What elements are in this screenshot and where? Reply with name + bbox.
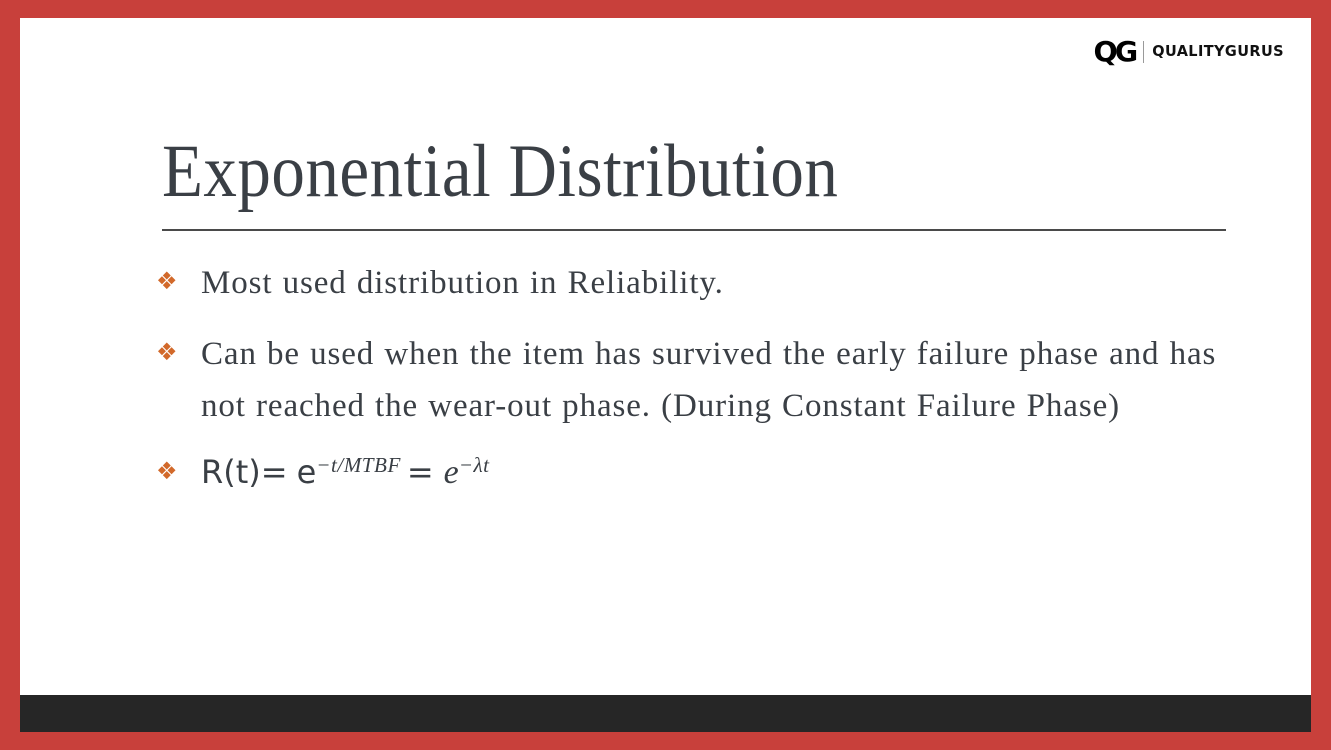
diamond-bullet-icon: ❖ [156,258,201,293]
slide-canvas: QG QUALITYGURUS Exponential Distribution… [20,18,1311,732]
formula-base-2: e [444,454,459,491]
bullet-item-1: ❖ Most used distribution in Reliability. [156,258,1226,310]
reliability-formula: R(t)=e−t/MTBF=e−λt [201,451,490,495]
slide-frame: QG QUALITYGURUS Exponential Distribution… [0,0,1331,750]
bullet-item-2-text: Can be used when the item has survived t… [201,329,1226,433]
diamond-bullet-icon: ❖ [156,451,201,483]
qualitygurus-logo: QG QUALITYGURUS [1094,37,1284,67]
logo-mark-qg: QG [1094,38,1139,66]
title-underline-rule [162,229,1226,231]
diamond-bullet-icon: ❖ [156,329,201,364]
logo-wordmark: QUALITYGURUS [1152,44,1284,59]
bullet-list: ❖ Most used distribution in Reliability.… [156,258,1226,515]
logo-divider [1143,41,1144,63]
formula-exponent-1: −t/MTBF [316,453,401,477]
formula-base-1: e [297,453,317,491]
formula-exponent-2: −λt [459,453,490,477]
bullet-item-2: ❖ Can be used when the item has survived… [156,329,1226,433]
footer-bar [20,695,1311,732]
bullet-item-1-text: Most used distribution in Reliability. [201,258,1226,310]
bullet-item-formula: ❖ R(t)=e−t/MTBF=e−λt [156,451,1226,495]
slide-title: Exponential Distribution [162,130,1232,214]
formula-equals: = [401,453,444,491]
formula-lhs: R(t)= [201,453,288,491]
